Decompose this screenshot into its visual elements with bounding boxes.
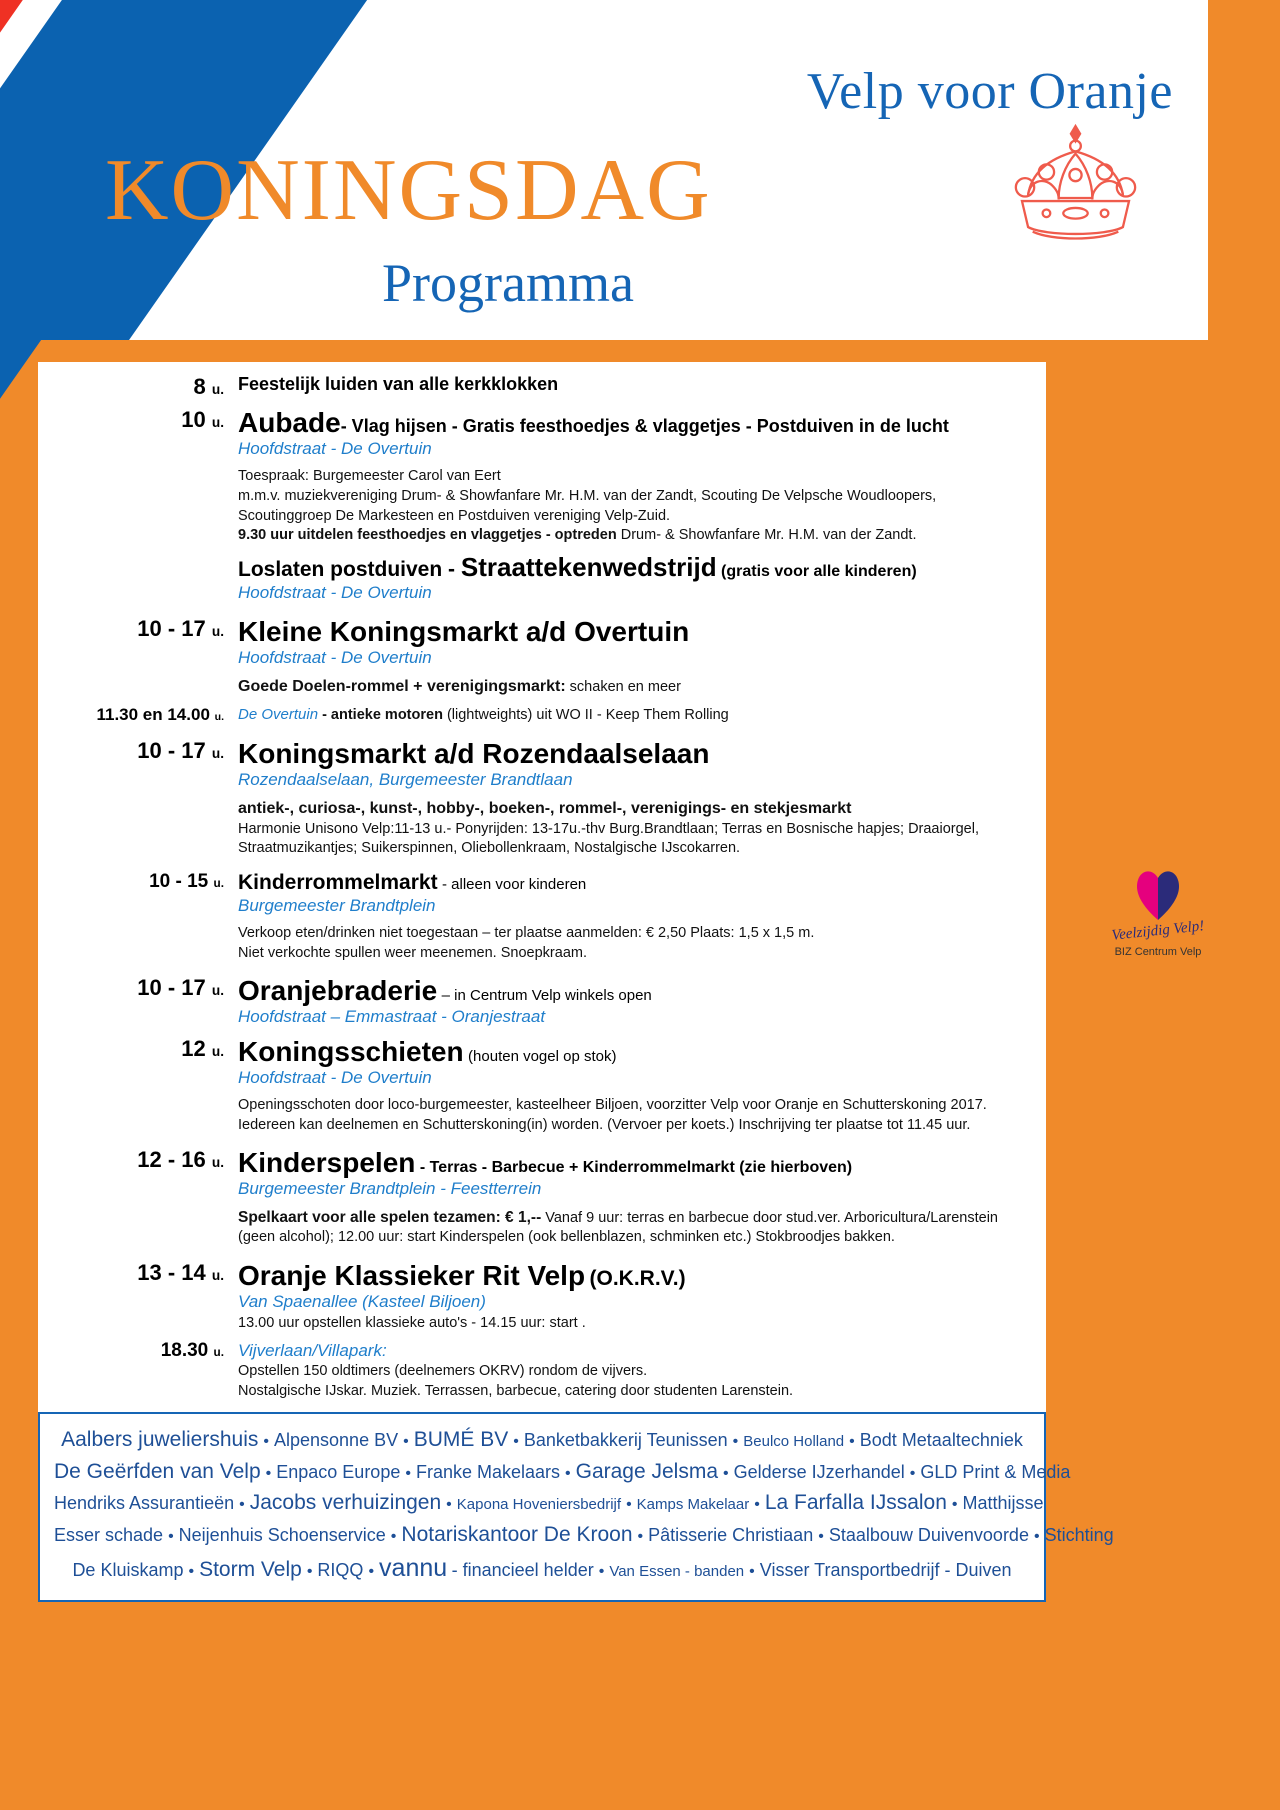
sponsor-separator-dot: •: [749, 1496, 765, 1513]
sub-entry: Loslaten postduiven - Straattekenwedstri…: [238, 553, 1032, 582]
sponsor-separator-dot: •: [234, 1496, 250, 1513]
sponsor-name: Kapona Hoveniersbedrijf: [457, 1496, 621, 1513]
program-entry: 10 - 17 u. Koningsmarkt a/d Rozendaalsel…: [38, 738, 1046, 859]
program-entry: 12 u. Koningsschieten (houten vogel op s…: [38, 1036, 1046, 1136]
entry-location: Hoofdstraat - De Overtuin: [238, 647, 1032, 669]
entry-location: Hoofdstraat – Emmastraat - Oranjestraat: [238, 1006, 1032, 1028]
entry-title-row: Oranje Klassieker Rit Velp (O.K.R.V.): [238, 1260, 1032, 1291]
sponsor-name: GLD Print & Media: [920, 1462, 1070, 1482]
program-entry: 18.30 u. Vijverlaan/Villapark: Opstellen…: [38, 1340, 1046, 1401]
entry-title: Aubade: [238, 407, 341, 438]
entry-time: 10 - 15 u.: [38, 871, 238, 893]
sponsor-name: Hendriks Assurantieën: [54, 1493, 234, 1513]
program-entry: 10 - 17 u. Oranjebraderie – in Centrum V…: [38, 975, 1046, 1028]
entry-location: Rozendaalselaan, Burgemeester Brandtlaan: [238, 769, 1032, 791]
entry-time: 18.30 u.: [38, 1340, 238, 1362]
entry-location: Burgemeester Brandtplein: [238, 895, 1032, 917]
sponsor-line: Esser schade•Neijenhuis Schoenservice•No…: [54, 1519, 1030, 1551]
sponsor-name: La Farfalla IJssalon: [765, 1491, 947, 1514]
entry-detail-line: Niet verkochte spullen weer meenemen. Sn…: [238, 944, 1032, 964]
entry-time: 10 u.: [38, 407, 238, 433]
entry-location: Vijverlaan/Villapark:: [238, 1340, 1032, 1362]
entry-location: Burgemeester Brandtplein - Feestterrein: [238, 1178, 1032, 1200]
sub-entry-title: Straattekenwedstrijd: [461, 552, 717, 582]
sponsor-name: Stichting: [1045, 1525, 1114, 1545]
entry-location: Hoofdstraat - De Overtuin: [238, 438, 1032, 460]
sponsor-name: Staalbouw Duivenvoorde: [829, 1525, 1029, 1545]
page-title: KONINGSDAG: [105, 140, 712, 241]
sponsor-separator-dot: •: [728, 1433, 744, 1450]
sponsor-name: Visser Transportbedrijf - Duiven: [760, 1560, 1012, 1580]
bottom-orange-frame: [0, 1792, 1280, 1810]
entry-detail-line: Goede Doelen-rommel + verenigingsmarkt: …: [238, 676, 1032, 698]
sponsors-label: Sponsors:: [48, 1392, 111, 1408]
sponsor-separator-dot: •: [905, 1465, 921, 1482]
program-entry: 12 - 16 u. Kinderspelen - Terras - Barbe…: [38, 1147, 1046, 1248]
sub-entry-suffix: (gratis voor alle kinderen): [717, 563, 917, 580]
sponsor-separator-dot: •: [718, 1465, 734, 1482]
entry-title: Kinderspelen: [238, 1147, 415, 1178]
entry-detail-line: Scoutinggroep De Markesteen en Postduive…: [238, 507, 1032, 527]
sponsor-separator-dot: •: [560, 1465, 576, 1482]
sponsor-name: BUMÉ BV: [414, 1428, 509, 1451]
entry-location: Hoofdstraat - De Overtuin: [238, 1067, 1032, 1089]
sponsor-name: RIQQ: [317, 1560, 363, 1580]
entry-time: 12 u.: [38, 1036, 238, 1062]
program-entry: 11.30 en 14.00 u. De Overtuin - antieke …: [38, 705, 1046, 726]
entry-title: Kinderrommelmarkt: [238, 871, 438, 894]
sponsor-name: Kamps Makelaar: [637, 1496, 750, 1513]
entry-title-row: Kinderspelen - Terras - Barbecue + Kinde…: [238, 1147, 1032, 1178]
poster: Velp voor Oranje KONINGSDAG Programma: [0, 0, 1280, 1810]
sponsor-name: Enpaco Europe: [276, 1462, 400, 1482]
sponsor-separator-dot: •: [400, 1465, 416, 1482]
biz-logo-caption: BIZ Centrum Velp: [1098, 946, 1218, 958]
sponsor-name: Aalbers juweliershuis: [61, 1428, 258, 1451]
sponsor-name: De Geërfden van Velp: [54, 1460, 261, 1483]
crown-icon: [998, 120, 1153, 250]
entry-detail-line: Openingsschoten door loco-burgemeester, …: [238, 1096, 1032, 1116]
entry-title-suffix: (O.K.R.V.): [590, 1267, 686, 1290]
sub-entry-location: Hoofdstraat - De Overtuin: [238, 582, 1032, 604]
sponsor-separator-dot: •: [441, 1496, 457, 1513]
program-entry: 8 u. Feestelijk luiden van alle kerkklok…: [38, 374, 1046, 400]
heart-leaf-icon: [1108, 862, 1208, 922]
program-entry: 13 - 14 u. Oranje Klassieker Rit Velp (O…: [38, 1260, 1046, 1333]
sponsor-line: De Geërfden van Velp•Enpaco Europe•Frank…: [54, 1456, 1030, 1488]
entry-time: 11.30 en 14.00 u.: [38, 705, 238, 725]
sponsor-name: Alpensonne BV: [274, 1430, 398, 1450]
sponsor-separator-dot: •: [302, 1563, 318, 1580]
entry-time: 10 - 17 u.: [38, 975, 238, 1001]
entry-detail-line: De Overtuin - antieke motoren (lightweig…: [238, 705, 1032, 726]
sponsor-name: De Kluiskamp: [72, 1560, 183, 1580]
sponsor-separator-dot: •: [594, 1563, 610, 1580]
entry-title-suffix: – in Centrum Velp winkels open: [442, 987, 652, 1004]
sponsors-box: Aalbers juweliershuis•Alpensonne BV•BUMÉ…: [38, 1412, 1046, 1602]
sponsor-name: Franke Makelaars: [416, 1462, 560, 1482]
sponsor-name: Matthijsse: [963, 1493, 1044, 1513]
sponsor-name: Esser schade: [54, 1525, 163, 1545]
entry-title-row: Kinderrommelmarkt - alleen voor kinderen: [238, 871, 1032, 895]
sponsor-name: Van Essen - banden: [609, 1563, 744, 1580]
entry-detail-line: (geen alcohol); 12.00 uur: start Kinders…: [238, 1228, 1032, 1248]
sponsor-separator-dot: •: [163, 1528, 179, 1545]
entry-title: Koningsmarkt a/d Rozendaalselaan: [238, 738, 1032, 769]
sponsor-name: Storm Velp: [199, 1558, 302, 1581]
sponsor-separator-dot: •: [621, 1496, 637, 1513]
sponsor-separator-dot: •: [398, 1433, 414, 1450]
entry-title-suffix: - alleen voor kinderen: [442, 876, 586, 893]
entry-detail-line: Straatmuzikantjes; Suikerspinnen, Oliebo…: [238, 839, 1032, 859]
sponsor-name: - financieel helder: [452, 1560, 594, 1580]
entry-time: 10 - 17 u.: [38, 616, 238, 642]
sponsor-separator-dot: •: [744, 1563, 760, 1580]
sponsor-separator-dot: •: [261, 1465, 277, 1482]
sponsor-name: Jacobs verhuizingen: [250, 1491, 441, 1514]
entry-title: Feestelijk luiden van alle kerkklokken: [238, 374, 1032, 395]
entry-title-row: Koningsschieten (houten vogel op stok): [238, 1036, 1032, 1067]
sponsor-separator-dot: •: [844, 1433, 860, 1450]
program-list: 8 u. Feestelijk luiden van alle kerkklok…: [38, 362, 1046, 1521]
entry-detail-line: Nostalgische IJskar. Muziek. Terrassen, …: [238, 1382, 1032, 1402]
sponsor-line: Hendriks Assurantieën•Jacobs verhuizinge…: [54, 1487, 1030, 1519]
page-subtitle: Programma: [382, 252, 634, 314]
entry-detail-bold: antiek-, curiosa-, kunst-, hobby-, boeke…: [238, 798, 1032, 820]
entry-detail-line: Toespraak: Burgemeester Carol van Eert: [238, 467, 1032, 487]
sponsor-name: Bodt Metaaltechniek: [860, 1430, 1023, 1450]
program-entry: 10 - 17 u. Kleine Koningsmarkt a/d Overt…: [38, 616, 1046, 698]
entry-title: Koningsschieten: [238, 1036, 464, 1067]
entry-detail-line: Iedereen kan deelnemen en Schutterskonin…: [238, 1116, 1032, 1136]
organization-title: Velp voor Oranje: [807, 62, 1173, 121]
sponsor-name: Garage Jelsma: [576, 1460, 718, 1483]
entry-detail-line: m.m.v. muziekvereniging Drum- & Showfanf…: [238, 487, 1032, 507]
entry-title: Oranje Klassieker Rit Velp: [238, 1260, 585, 1291]
entry-detail-line: 9.30 uur uitdelen feesthoedjes en vlagge…: [238, 526, 1032, 546]
sponsor-separator-dot: •: [813, 1528, 829, 1545]
program-entry: 10 u. Aubade- Vlag hijsen - Gratis feest…: [38, 407, 1046, 604]
sponsor-name: vannu: [379, 1554, 447, 1582]
sponsor-line: De Kluiskamp•Storm Velp•RIQQ•vannu - fin…: [54, 1550, 1030, 1588]
sponsor-separator-dot: •: [947, 1496, 963, 1513]
program-entry: 10 - 15 u. Kinderrommelmarkt - alleen vo…: [38, 871, 1046, 963]
entry-title-row: Oranjebraderie – in Centrum Velp winkels…: [238, 975, 1032, 1006]
sponsor-line: Aalbers juweliershuis•Alpensonne BV•BUMÉ…: [54, 1424, 1030, 1456]
entry-title-suffix: (houten vogel op stok): [468, 1048, 616, 1065]
entry-location: Van Spaenallee (Kasteel Biljoen): [238, 1291, 1032, 1313]
entry-location-inline: De Overtuin: [238, 706, 318, 723]
entry-title-suffix: - Terras - Barbecue + Kinderrommelmarkt …: [420, 1159, 852, 1176]
entry-detail-line: Opstellen 150 oldtimers (deelnemers OKRV…: [238, 1362, 1032, 1382]
entry-detail-line: Harmonie Unisono Velp:11-13 u.- Ponyrijd…: [238, 820, 1032, 840]
entry-detail-line: 13.00 uur opstellen klassieke auto's - 1…: [238, 1314, 1032, 1334]
entry-title-row: Aubade- Vlag hijsen - Gratis feesthoedje…: [238, 407, 1032, 438]
sponsor-name: Neijenhuis Schoenservice: [179, 1525, 386, 1545]
entry-time: 12 - 16 u.: [38, 1147, 238, 1173]
entry-title: Kleine Koningsmarkt a/d Overtuin: [238, 616, 1032, 647]
entry-time: 13 - 14 u.: [38, 1260, 238, 1286]
sponsor-name: Notariskantoor De Kroon: [401, 1523, 632, 1546]
entry-detail-line: Verkoop eten/drinken niet toegestaan – t…: [238, 924, 1032, 944]
sponsor-separator-dot: •: [183, 1563, 199, 1580]
sponsor-separator-dot: •: [258, 1433, 274, 1450]
entry-time: 10 - 17 u.: [38, 738, 238, 764]
entry-detail-line: Spelkaart voor alle spelen tezamen: € 1,…: [238, 1208, 1032, 1229]
sponsor-name: Gelderse IJzerhandel: [734, 1462, 905, 1482]
sub-entry-prefix: Loslaten postduiven -: [238, 558, 461, 581]
sponsor-separator-dot: •: [633, 1528, 649, 1545]
header-banner: Velp voor Oranje KONINGSDAG Programma: [0, 0, 1208, 340]
entry-title-suffix: - Vlag hijsen - Gratis feesthoedjes & vl…: [341, 416, 949, 436]
entry-title: Oranjebraderie: [238, 975, 437, 1006]
sponsor-separator-dot: •: [508, 1433, 524, 1450]
sponsor-separator-dot: •: [1029, 1528, 1045, 1545]
sponsor-separator-dot: •: [386, 1528, 402, 1545]
biz-centrum-velp-logo: Veelzijdig Velp! BIZ Centrum Velp: [1098, 862, 1218, 958]
sponsor-name: Pâtisserie Christiaan: [648, 1525, 813, 1545]
sponsor-name: Banketbakkerij Teunissen: [524, 1430, 728, 1450]
sponsor-separator-dot: •: [363, 1563, 379, 1580]
sponsor-name: Beulco Holland: [743, 1433, 844, 1450]
entry-time: 8 u.: [38, 374, 238, 400]
